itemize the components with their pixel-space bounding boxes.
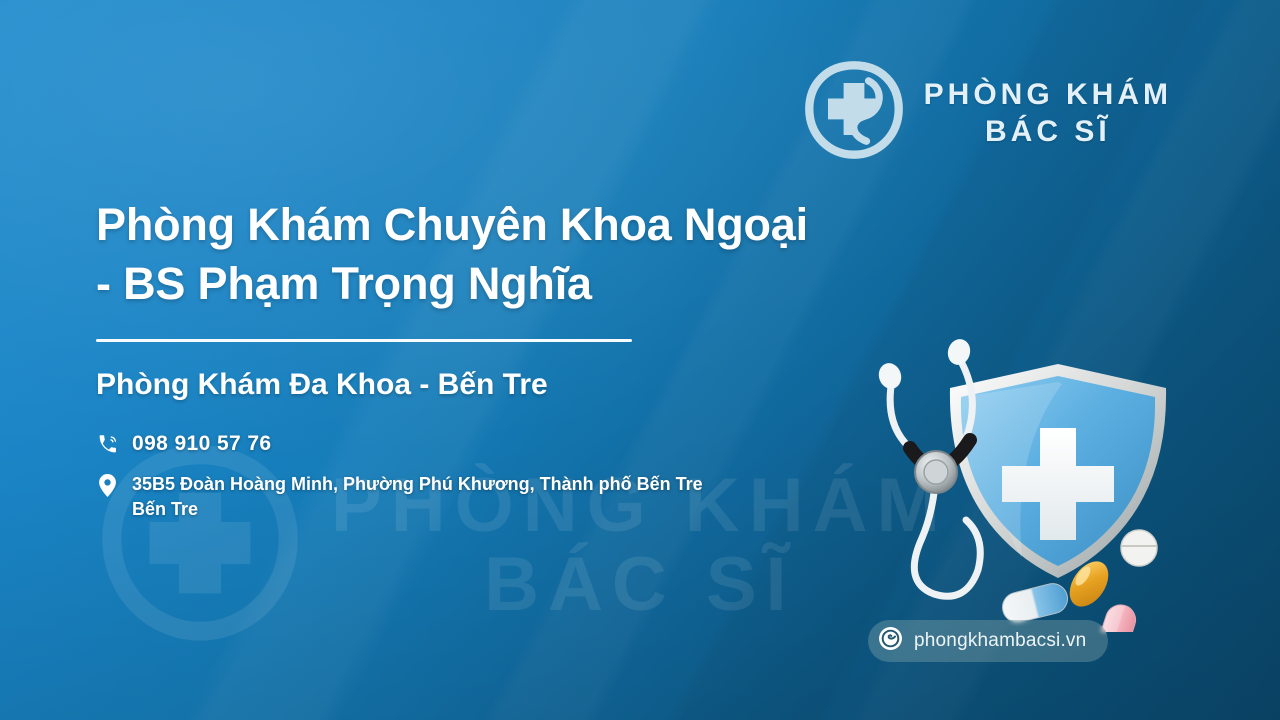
pill-gold-softgel-capsule xyxy=(1062,554,1116,613)
pill-blue-white-capsule xyxy=(999,580,1070,625)
medical-cross-circle-icon xyxy=(802,58,906,167)
address-line-1: 35B5 Đoàn Hoàng Minh, Phường Phú Khương,… xyxy=(132,474,703,494)
contact-info: 098 910 57 76 35B5 Đoàn Hoàng Minh, Phườ… xyxy=(96,432,876,523)
main-content: Phòng Khám Chuyên Khoa Ngoại - BS Phạm T… xyxy=(96,196,876,539)
page-subtitle: Phòng Khám Đa Khoa - Bến Tre xyxy=(96,366,876,404)
website-url: phongkhambacsi.vn xyxy=(914,630,1086,652)
stethoscope-icon xyxy=(876,336,981,596)
page-title-line-2: - BS Phạm Trọng Nghĩa xyxy=(96,255,876,314)
website-badge[interactable]: phongkhambacsi.vn xyxy=(868,620,1108,662)
phone-row[interactable]: 098 910 57 76 xyxy=(96,432,876,456)
medical-illustration xyxy=(862,332,1202,632)
map-pin-icon xyxy=(96,472,118,497)
pill-white-round-tablet xyxy=(1121,530,1157,566)
title-divider xyxy=(96,339,632,342)
address-row[interactable]: 35B5 Đoàn Hoàng Minh, Phường Phú Khương,… xyxy=(96,472,876,523)
page-title: Phòng Khám Chuyên Khoa Ngoại - BS Phạm T… xyxy=(96,196,876,313)
clinic-banner: PHÒNG KHÁM BÁC SĨ PHÒNG KHÁM BÁC SĨ xyxy=(0,0,1280,720)
globe-circle-icon xyxy=(878,626,903,656)
phone-ringing-icon xyxy=(96,432,118,455)
medical-shield-cross-icon xyxy=(950,364,1166,578)
phone-number: 098 910 57 76 xyxy=(132,432,272,456)
page-title-line-1: Phòng Khám Chuyên Khoa Ngoại xyxy=(96,196,876,255)
address-line-2: Bến Tre xyxy=(132,499,198,519)
brand-logo-line-1: PHÒNG KHÁM xyxy=(924,78,1172,111)
brand-logo-text: PHÒNG KHÁM BÁC SĨ xyxy=(924,78,1172,148)
brand-logo[interactable]: PHÒNG KHÁM BÁC SĨ xyxy=(802,58,1172,167)
address: 35B5 Đoàn Hoàng Minh, Phường Phú Khương,… xyxy=(132,472,703,523)
watermark-line-2: BÁC SĨ xyxy=(484,545,796,624)
brand-logo-line-2: BÁC SĨ xyxy=(985,115,1111,148)
